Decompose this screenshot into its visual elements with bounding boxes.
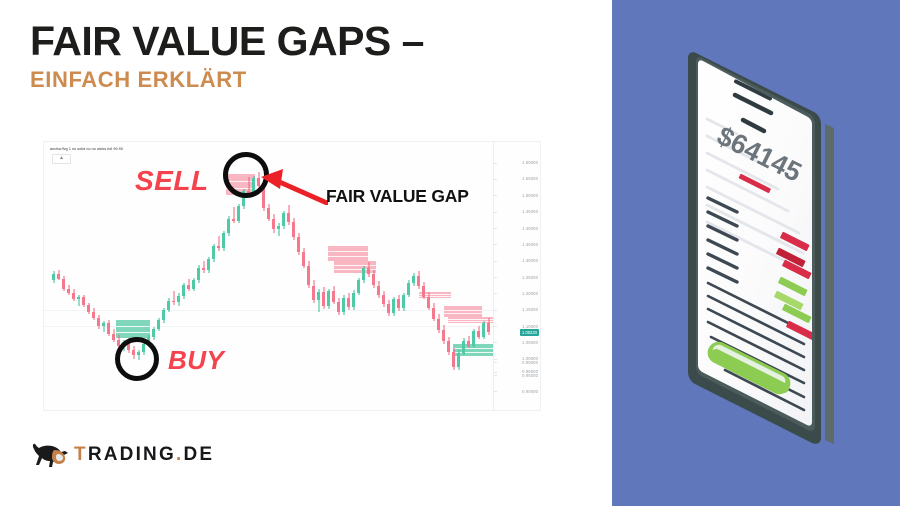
- candle-body: [422, 286, 425, 296]
- headline-line-1: FAIR VALUE GAPS –: [30, 20, 590, 63]
- annotation-sell-label: SELL: [135, 165, 209, 197]
- candle-body: [357, 280, 360, 292]
- candle-body: [312, 286, 315, 300]
- price-axis-label: 1.35000: [522, 242, 538, 247]
- brand-logo-text-de: DE: [183, 444, 214, 465]
- annotation-buy-label: BUY: [168, 345, 224, 376]
- candle-body: [222, 233, 225, 248]
- candle-body: [317, 292, 320, 300]
- candle-body: [202, 268, 205, 271]
- price-axis-tick: [494, 362, 497, 363]
- candle-body: [427, 297, 430, 308]
- candle-body: [442, 330, 445, 341]
- candle-body: [362, 268, 365, 280]
- bull-icon: [28, 440, 74, 470]
- price-axis-tick: [494, 326, 497, 327]
- candlestick: [347, 142, 350, 410]
- phone-illustration: $64145: [612, 0, 900, 506]
- candle-body: [177, 296, 180, 303]
- page-title: FAIR VALUE GAPS – EINFACH ERKLÄRT: [30, 20, 590, 93]
- candle-body: [392, 299, 395, 313]
- candlestick: [467, 142, 470, 410]
- candle-body: [82, 297, 85, 305]
- price-axis-label: 1.60000: [522, 160, 538, 165]
- price-axis-label: 1.50000: [522, 193, 538, 198]
- candle-body: [472, 331, 475, 345]
- price-axis-tick: [494, 293, 497, 294]
- candle-body: [212, 246, 215, 259]
- candlestick: [477, 142, 480, 410]
- candle-body: [412, 276, 415, 283]
- candle-body: [277, 226, 280, 229]
- candle-body: [92, 312, 95, 318]
- price-axis-label: 1.05000: [522, 340, 538, 345]
- candle-body: [72, 293, 75, 300]
- candle-body: [62, 279, 65, 289]
- candle-body: [347, 298, 350, 307]
- candle-body: [387, 304, 390, 313]
- candlestick: [332, 142, 335, 410]
- price-axis-label: 0.90000: [522, 389, 538, 394]
- headline-line-2: EINFACH ERKLÄRT: [30, 67, 590, 93]
- price-axis-tick: [494, 359, 497, 360]
- candlestick: [457, 142, 460, 410]
- candle-body: [462, 341, 465, 353]
- candlestick: [52, 142, 55, 410]
- candlestick: [77, 142, 80, 410]
- candlestick: [57, 142, 60, 410]
- candlestick: [387, 142, 390, 410]
- candle-body: [302, 252, 305, 266]
- price-axis-tick: [494, 342, 497, 343]
- candlestick: [362, 142, 365, 410]
- price-axis-tick: [494, 310, 497, 311]
- candlestick: [377, 142, 380, 410]
- candlestick: [402, 142, 405, 410]
- candlestick: [82, 142, 85, 410]
- chart-price-axis: 1.600001.550001.500001.450001.400001.350…: [493, 142, 540, 410]
- chart-collapse-button[interactable]: ▲: [52, 154, 71, 164]
- candle-wick: [218, 236, 219, 250]
- candle-body: [457, 353, 460, 367]
- price-axis-tick: [494, 372, 497, 373]
- candlestick: [357, 142, 360, 410]
- candle-body: [87, 305, 90, 312]
- candle-body: [97, 318, 100, 326]
- candlestick: [397, 142, 400, 410]
- annotation-arrow-icon: [253, 163, 328, 205]
- candle-body: [487, 323, 490, 332]
- current-price-badge: 1.08220: [520, 329, 539, 336]
- candlestick: [442, 142, 445, 410]
- annotation-fvg-label: FAIR VALUE GAP: [326, 186, 469, 207]
- candle-wick: [233, 207, 234, 223]
- candle-body: [292, 222, 295, 237]
- candle-body: [57, 274, 60, 279]
- candle-body: [267, 208, 270, 218]
- candle-body: [207, 259, 210, 270]
- price-axis-label: 1.20000: [522, 291, 538, 296]
- candle-body: [397, 299, 400, 308]
- candle-body: [377, 286, 380, 296]
- candlestick: [97, 142, 100, 410]
- candlestick: [382, 142, 385, 410]
- candlestick: [432, 142, 435, 410]
- candle-body: [477, 331, 480, 336]
- candlestick: [342, 142, 345, 410]
- price-axis-label: 1.55000: [522, 176, 538, 181]
- candle-body: [102, 323, 105, 326]
- brand-logo-text-rading: RADING: [88, 444, 176, 465]
- candlestick: [412, 142, 415, 410]
- candle-body: [467, 341, 470, 346]
- candle-body: [372, 274, 375, 285]
- price-axis-tick: [494, 391, 497, 392]
- poster-canvas: FAIR VALUE GAPS – EINFACH ERKLÄRT 1.6000…: [0, 0, 900, 506]
- candlestick: [67, 142, 70, 410]
- candle-body: [152, 329, 155, 338]
- price-axis-tick: [494, 375, 497, 376]
- price-axis-tick: [494, 212, 497, 213]
- candle-body: [447, 341, 450, 352]
- candle-body: [197, 268, 200, 280]
- price-axis-tick: [494, 244, 497, 245]
- candlestick: [337, 142, 340, 410]
- candlestick: [472, 142, 475, 410]
- price-axis-tick: [494, 163, 497, 164]
- candlestick: [407, 142, 410, 410]
- candlestick: [437, 142, 440, 410]
- price-axis-label: 1.25000: [522, 275, 538, 280]
- candle-body: [172, 301, 175, 303]
- candlestick: [487, 142, 490, 410]
- candle-body: [232, 219, 235, 221]
- candle-wick: [173, 291, 174, 305]
- candle-body: [337, 302, 340, 312]
- candle-body: [297, 237, 300, 252]
- candle-body: [217, 246, 220, 248]
- candle-body: [437, 319, 440, 330]
- candle-body: [182, 285, 185, 296]
- candle-body: [452, 352, 455, 367]
- candle-body: [287, 213, 290, 222]
- candle-body: [107, 323, 110, 334]
- price-axis-tick: [494, 179, 497, 180]
- candle-body: [167, 301, 170, 310]
- candle-body: [77, 297, 80, 299]
- candlestick: [417, 142, 420, 410]
- candle-body: [402, 295, 405, 309]
- candlestick: [372, 142, 375, 410]
- candlestick: [112, 142, 115, 410]
- candle-body: [352, 293, 355, 307]
- phone-mockup: $64145: [612, 0, 900, 506]
- candle-body: [327, 291, 330, 306]
- candlestick: [107, 142, 110, 410]
- candlestick: [447, 142, 450, 410]
- candlestick: [422, 142, 425, 410]
- price-axis-tick: [494, 277, 497, 278]
- candle-body: [307, 266, 310, 286]
- price-axis-label: 0.95000: [522, 373, 538, 378]
- candle-body: [382, 295, 385, 304]
- candle-body: [282, 213, 285, 226]
- candlestick: [92, 142, 95, 410]
- annotation-circle-buy: [115, 337, 159, 381]
- candlestick: [427, 142, 430, 410]
- candle-body: [162, 310, 165, 320]
- candlestick: [367, 142, 370, 410]
- candlestick: [72, 142, 75, 410]
- candlestick: [87, 142, 90, 410]
- candlestick: [62, 142, 65, 410]
- candle-body: [432, 308, 435, 319]
- price-axis-label: 1.15000: [522, 307, 538, 312]
- candlestick: [462, 142, 465, 410]
- price-axis-label: 1.10000: [522, 324, 538, 329]
- candle-body: [192, 280, 195, 289]
- brand-logo-text-t: T: [74, 444, 88, 465]
- candle-body: [67, 289, 70, 293]
- price-axis-label: 1.45000: [522, 209, 538, 214]
- price-axis-tick: [494, 261, 497, 262]
- price-axis-label: 1.30000: [522, 258, 538, 263]
- candle-body: [227, 219, 230, 233]
- candle-body: [407, 283, 410, 295]
- candle-body: [52, 274, 55, 280]
- candle-body: [367, 268, 370, 274]
- candlestick: [482, 142, 485, 410]
- brand-logo[interactable]: TRADING.DE: [28, 438, 214, 472]
- price-axis-tick: [494, 195, 497, 196]
- price-axis-tick: [494, 228, 497, 229]
- candlestick: [352, 142, 355, 410]
- candlestick: [452, 142, 455, 410]
- candle-body: [332, 291, 335, 301]
- candle-body: [112, 334, 115, 340]
- price-axis-label: 0.99000: [522, 360, 538, 365]
- candlestick: [392, 142, 395, 410]
- price-axis-label: 1.40000: [522, 226, 538, 231]
- chart-indicator-legend: anchor/fvg 1 no solid no no wicks full 9…: [50, 147, 123, 151]
- brand-logo-text: TRADING.DE: [74, 444, 214, 466]
- candle-body: [482, 323, 485, 337]
- candle-body: [272, 219, 275, 229]
- candle-body: [237, 206, 240, 220]
- candle-body: [417, 276, 420, 286]
- candle-body: [342, 298, 345, 312]
- candle-body: [157, 320, 160, 329]
- candle-body: [322, 292, 325, 306]
- candlestick: [102, 142, 105, 410]
- candle-body: [187, 285, 190, 289]
